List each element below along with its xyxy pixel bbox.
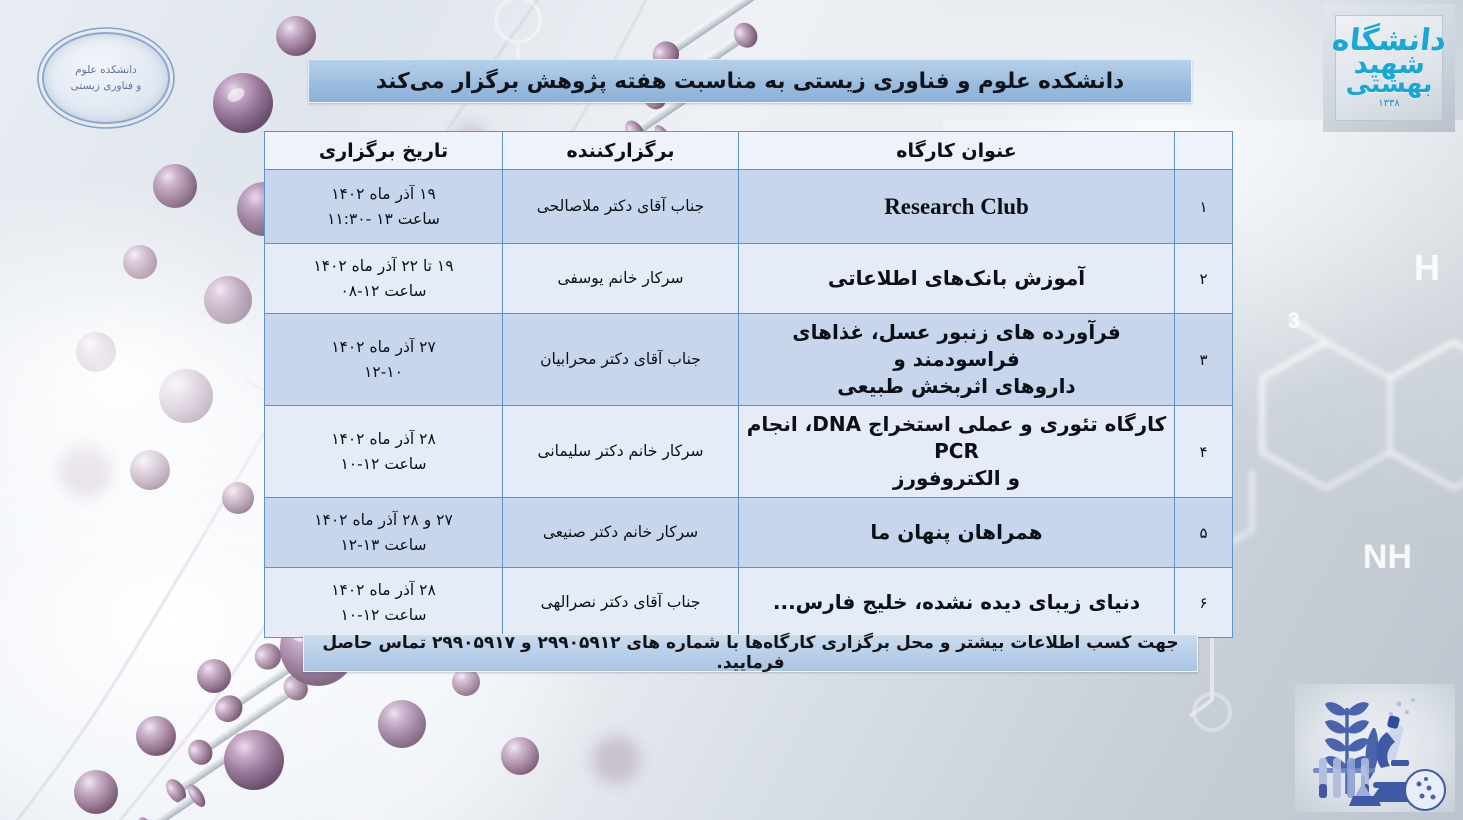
date-line-1: ۲۸ آذر ماه ۱۴۰۲: [272, 578, 495, 602]
table-row: ۱ Research Club جناب آقای دکتر ملاصالحی …: [265, 170, 1233, 244]
title-line-2: و الکتروفورز: [746, 465, 1167, 492]
column-header-number: [1175, 132, 1233, 170]
table-row: ۵ همراهان پنهان ما سرکار خانم دکتر صنیعی…: [265, 498, 1233, 568]
row-date: ۲۸ آذر ماه ۱۴۰۲ ساعت ۱۲-۱۰: [265, 406, 503, 498]
workshop-title-text: Research Club: [884, 194, 1029, 219]
workshop-schedule-table: عنوان کارگاه برگزارکننده تاریخ برگزاری ۱…: [264, 131, 1233, 638]
row-number: ۱: [1175, 170, 1233, 244]
row-number: ۵: [1175, 498, 1233, 568]
table-row: ۴ کارگاه تئوری و عملی استخراج DNA، انجام…: [265, 406, 1233, 498]
row-host: جناب آقای دکتر محرابیان: [503, 314, 739, 406]
row-date: ۱۹ آذر ماه ۱۴۰۲ ساعت ۱۳ -۱۱:۳۰: [265, 170, 503, 244]
date-line-1: ۱۹ تا ۲۲ آذر ماه ۱۴۰۲: [272, 254, 495, 278]
date-line-1: ۲۸ آذر ماه ۱۴۰۲: [272, 427, 495, 451]
seal-line-2: و فناوری زیستی: [71, 78, 142, 94]
date-line-2: ساعت ۱۲-۱۰: [272, 452, 495, 476]
column-header-host: برگزارکننده: [503, 132, 739, 170]
table-header-row: عنوان کارگاه برگزارکننده تاریخ برگزاری: [265, 132, 1233, 170]
faculty-of-life-sciences-seal: دانشکده علوم و فناوری زیستی: [26, 22, 186, 134]
date-line-2: ساعت ۱۲-۱۰: [272, 603, 495, 627]
row-workshop-title: همراهان پنهان ما: [739, 498, 1175, 568]
row-date: ۱۹ تا ۲۲ آذر ماه ۱۴۰۲ ساعت ۱۲-۰۸: [265, 244, 503, 314]
row-host: سرکار خانم یوسفی: [503, 244, 739, 314]
column-header-title: عنوان کارگاه: [739, 132, 1175, 170]
date-line-2: ساعت ۱۳-۱۲: [272, 533, 495, 557]
table-row: ۲ آموزش بانک‌های اطلاعاتی سرکار خانم یوس…: [265, 244, 1233, 314]
table-body: ۱ Research Club جناب آقای دکتر ملاصالحی …: [265, 170, 1233, 638]
contact-info-banner: جهت کسب اطلاعات بیشتر و محل برگزاری کارگ…: [303, 634, 1198, 672]
biotechnology-illustration-logo: [1295, 684, 1455, 812]
row-workshop-title: آموزش بانک‌های اطلاعاتی: [739, 244, 1175, 314]
row-workshop-title: Research Club: [739, 170, 1175, 244]
title-line-2: داروهای اثربخش طبیعی: [746, 373, 1167, 400]
column-header-date: تاریخ برگزاری: [265, 132, 503, 170]
dna-sparkle: [1389, 698, 1415, 716]
row-workshop-title: فرآورده های زنبور عسل، غذاهای فراسودمند …: [739, 314, 1175, 406]
row-number: ۴: [1175, 406, 1233, 498]
row-number: ۶: [1175, 568, 1233, 638]
row-host: جناب آقای دکتر نصرالهی: [503, 568, 739, 638]
seal-face: دانشکده علوم و فناوری زیستی: [42, 32, 170, 124]
date-line-2: ساعت ۱۲-۰۸: [272, 279, 495, 303]
logo-inner-frame: دانشگاه شهید بهشتی ۱۳۳۸: [1335, 15, 1443, 121]
date-line-1: ۲۷ آذر ماه ۱۴۰۲: [272, 335, 495, 359]
row-workshop-title: کارگاه تئوری و عملی استخراج DNA، انجام P…: [739, 406, 1175, 498]
title-line-1: فرآورده های زنبور عسل، غذاهای فراسودمند …: [746, 319, 1167, 373]
row-workshop-title: دنیای زیبای دیده نشده، خلیج فارس...: [739, 568, 1175, 638]
cell-culture-icon: [1405, 770, 1445, 810]
workshop-table-container: عنوان کارگاه برگزارکننده تاریخ برگزاری ۱…: [265, 131, 1233, 638]
title-line-1: کارگاه تئوری و عملی استخراج DNA، انجام P…: [746, 411, 1167, 465]
date-line-2: ۱۲-۱۰: [272, 360, 495, 384]
row-host: سرکار خانم دکتر سلیمانی: [503, 406, 739, 498]
date-line-1: ۱۹ آذر ماه ۱۴۰۲: [272, 182, 495, 206]
row-date: ۲۷ آذر ماه ۱۴۰۲ ۱۲-۱۰: [265, 314, 503, 406]
poster-canvas: CH 3 H NH دانش: [0, 0, 1463, 820]
row-date: ۲۸ آذر ماه ۱۴۰۲ ساعت ۱۲-۱۰: [265, 568, 503, 638]
row-host: سرکار خانم دکتر صنیعی: [503, 498, 739, 568]
table-row: ۳ فرآورده های زنبور عسل، غذاهای فراسودمن…: [265, 314, 1233, 406]
date-line-2: ساعت ۱۳ -۱۱:۳۰: [272, 207, 495, 231]
row-host: جناب آقای دکتر ملاصالحی: [503, 170, 739, 244]
table-row: ۶ دنیای زیبای دیده نشده، خلیج فارس... جن…: [265, 568, 1233, 638]
seal-line-1: دانشکده علوم: [75, 62, 137, 78]
row-number: ۲: [1175, 244, 1233, 314]
logo-word-shahid: شهید: [1353, 52, 1426, 78]
title-banner: دانشکده علوم و فناوری زیستی به مناسبت هف…: [308, 59, 1192, 103]
shahid-beheshti-university-logo: دانشگاه شهید بهشتی ۱۳۳۸: [1323, 4, 1455, 132]
row-number: ۳: [1175, 314, 1233, 406]
logo-year: ۱۳۳۸: [1378, 98, 1399, 109]
date-line-1: ۲۷ و ۲۸ آذر ماه ۱۴۰۲: [272, 508, 495, 532]
row-date: ۲۷ و ۲۸ آذر ماه ۱۴۰۲ ساعت ۱۳-۱۲: [265, 498, 503, 568]
